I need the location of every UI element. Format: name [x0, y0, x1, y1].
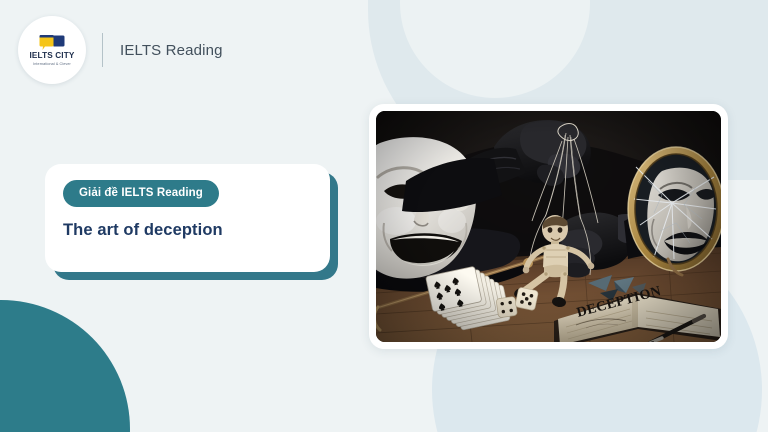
page-title: IELTS Reading — [120, 42, 223, 59]
logo-badge[interactable]: IELTS CITY International & Clever — [18, 16, 86, 84]
logo-wordmark: IELTS CITY — [29, 52, 74, 60]
photo-frame: DECEPTION — [376, 111, 721, 342]
info-card-surface: Giải đề IELTS Reading The art of decepti… — [45, 164, 330, 272]
background-circle-light-top — [400, 0, 590, 98]
background-circle-teal — [0, 300, 130, 432]
logo-tagline: International & Clever — [33, 63, 71, 67]
header: IELTS CITY International & Clever IELTS … — [18, 16, 223, 84]
speech-bubble-book-icon — [37, 34, 67, 51]
info-card: Giải đề IELTS Reading The art of decepti… — [45, 164, 330, 272]
header-divider — [102, 33, 103, 67]
slide-canvas: IELTS CITY International & Clever IELTS … — [0, 0, 768, 432]
status-badge: Giải đề IELTS Reading — [63, 180, 219, 207]
deception-illustration: DECEPTION — [376, 111, 721, 342]
photo-card: DECEPTION — [369, 104, 728, 349]
lesson-heading: The art of deception — [63, 221, 312, 240]
